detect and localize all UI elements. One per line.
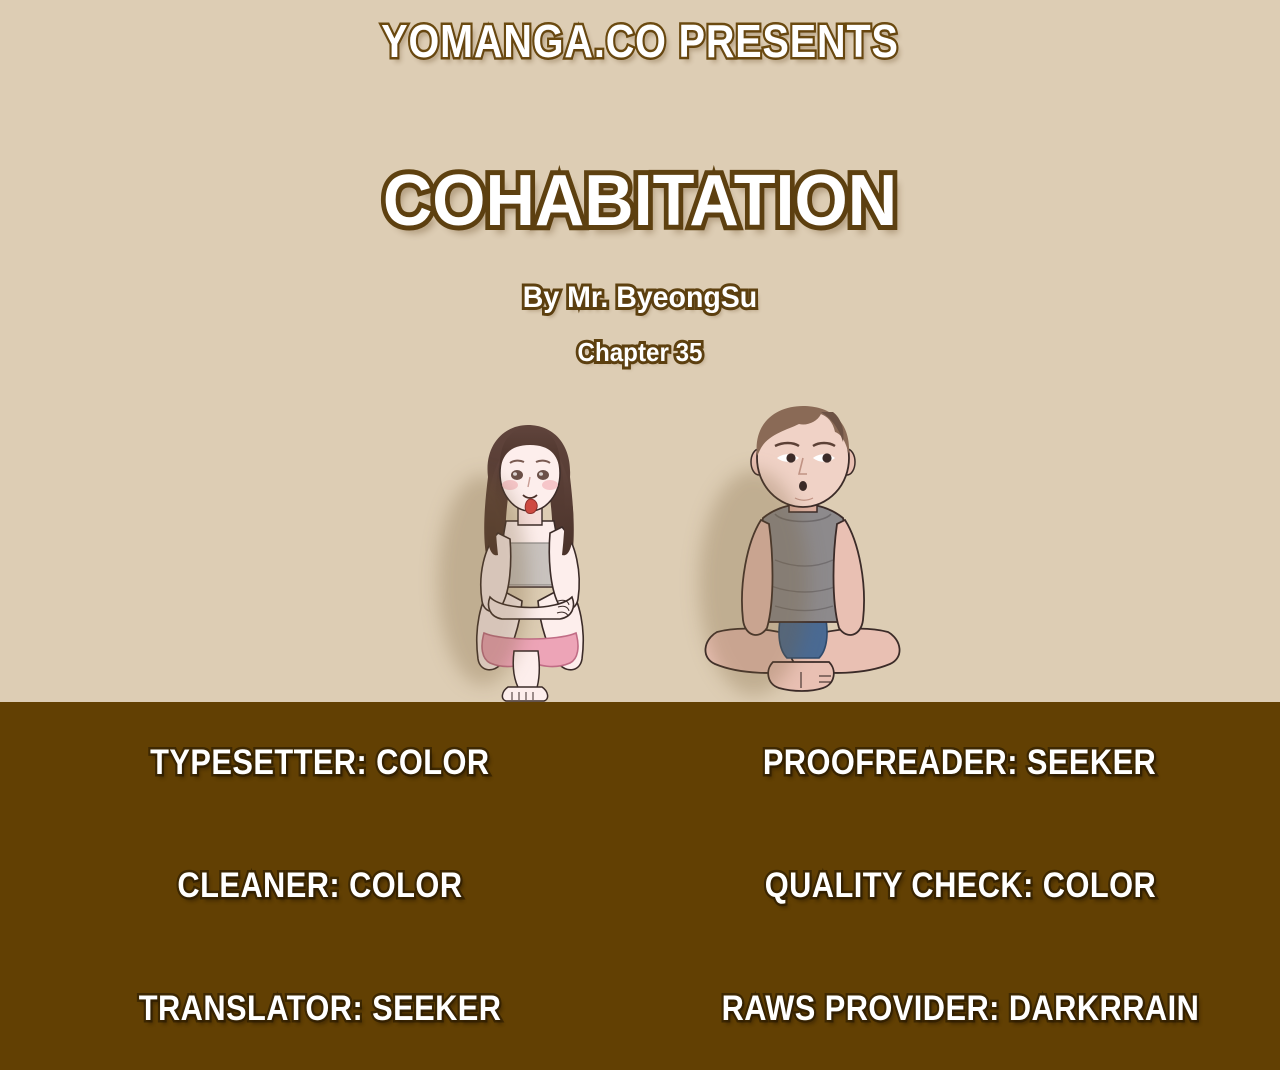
credit-translator: TRANSLATOR: SEEKER — [0, 989, 640, 1029]
male-left-pupil — [786, 453, 795, 462]
male-mouth — [799, 481, 807, 491]
credit-typesetter: TYPESETTER: COLOR — [0, 743, 640, 783]
credit-raws-provider: RAWS PROVIDER: DARKRRAIN — [640, 989, 1280, 1029]
male-right-arm — [834, 520, 865, 635]
credit-raws-provider-label: RAWS PROVIDER: DARKRRAIN — [721, 989, 1199, 1029]
female-character — [440, 415, 620, 702]
credits-panel: TYPESETTER: COLOR PROOFREADER: SEEKER CL… — [0, 702, 1280, 1070]
male-character — [695, 400, 910, 702]
comic-credits-page: YOMANGA.CO PRESENTS COHABITATION By Mr. … — [0, 0, 1280, 1070]
credit-proofreader: PROOFREADER: SEEKER — [640, 743, 1280, 783]
chapter-number: Chapter 35 — [45, 337, 1235, 368]
female-feet — [502, 687, 547, 701]
female-shins — [513, 651, 539, 691]
credit-typesetter-label: TYPESETTER: COLOR — [150, 743, 489, 783]
male-character-shadow — [699, 470, 809, 695]
credit-proofreader-label: PROOFREADER: SEEKER — [763, 743, 1156, 783]
credit-quality-check: QUALITY CHECK: COLOR — [640, 866, 1280, 906]
credit-translator-label: TRANSLATOR: SEEKER — [139, 989, 502, 1029]
female-character-shadow — [438, 475, 528, 685]
illustration-panel: YOMANGA.CO PRESENTS COHABITATION By Mr. … — [0, 0, 1280, 702]
female-strawberry-icon — [525, 499, 537, 514]
studio-presents-header: YOMANGA.CO PRESENTS — [90, 14, 1191, 68]
author-credit: By Mr. ByeongSu — [32, 281, 1248, 315]
male-right-pupil — [822, 453, 831, 462]
credit-quality-check-label: QUALITY CHECK: COLOR — [764, 866, 1156, 906]
page-title: COHABITATION — [32, 160, 1248, 242]
credit-cleaner: CLEANER: COLOR — [0, 866, 640, 906]
credits-grid: TYPESETTER: COLOR PROOFREADER: SEEKER CL… — [0, 702, 1280, 1070]
credit-cleaner-label: CLEANER: COLOR — [177, 866, 462, 906]
